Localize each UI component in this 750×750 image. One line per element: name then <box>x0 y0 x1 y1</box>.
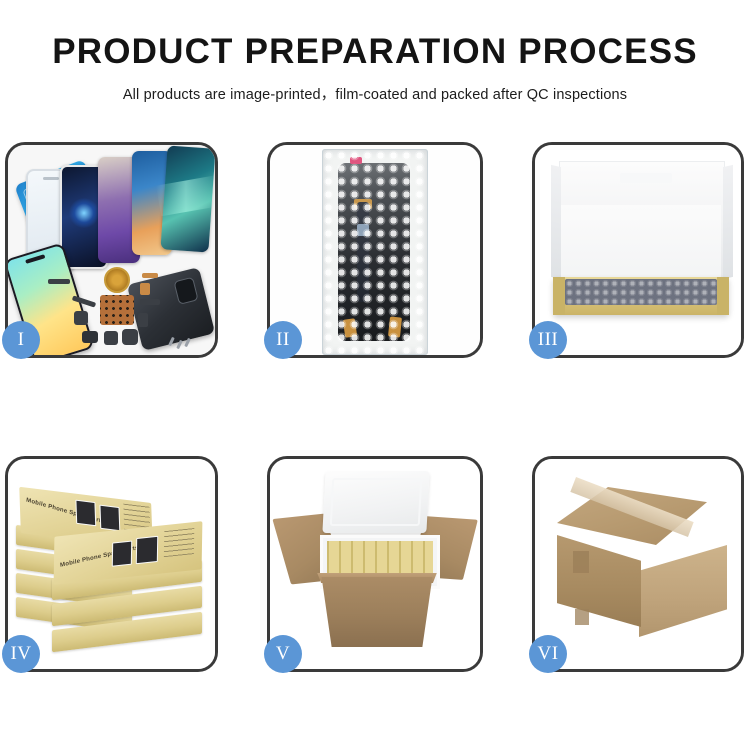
step-2-image <box>270 145 480 355</box>
box-screen-photo <box>99 505 120 532</box>
step-6-image <box>535 459 741 669</box>
carton-tab-upper <box>573 551 589 573</box>
kraft-tray <box>553 277 729 315</box>
foam-sheet <box>561 205 721 281</box>
step-badge-2: II <box>264 321 302 359</box>
screws-icon <box>170 337 194 353</box>
bubble-wrapped-contents <box>565 279 717 305</box>
step-panel-3: III <box>532 142 744 358</box>
part-connector <box>72 295 96 307</box>
carton-body <box>314 577 440 647</box>
box-screen-photo <box>75 500 96 527</box>
chip-array-icon <box>100 295 134 325</box>
part-strip <box>140 299 160 305</box>
bag-edge <box>322 149 428 355</box>
process-step-grid: I II <box>5 142 745 672</box>
step-panel-1: I <box>5 142 218 358</box>
foam-lid-open <box>322 471 429 533</box>
speaker-icon <box>82 331 98 343</box>
lid-tab <box>620 173 672 183</box>
step-3-image <box>535 145 741 355</box>
step-badge-1: I <box>2 321 40 359</box>
header: PRODUCT PREPARATION PROCESS All products… <box>0 0 750 104</box>
phone-screen-4 <box>160 145 215 252</box>
box-screen-photo <box>112 541 132 567</box>
product-preparation-infographic: PRODUCT PREPARATION PROCESS All products… <box>0 0 750 750</box>
carton-side-face <box>639 545 727 637</box>
page-title: PRODUCT PREPARATION PROCESS <box>0 34 750 69</box>
flex-cable-1 <box>142 273 158 278</box>
step-panel-5: V <box>267 456 483 672</box>
step-1-image <box>8 145 215 355</box>
part-module <box>74 311 88 325</box>
step-badge-4: IV <box>2 635 40 673</box>
step-5-image <box>270 459 480 669</box>
spare-parts-group <box>70 269 188 355</box>
part-button <box>104 331 118 345</box>
box-screen-photo <box>136 536 158 564</box>
step-panel-2: II <box>267 142 483 358</box>
flex-cable-2 <box>140 283 150 295</box>
step-4-image: Mobile Phone Spare Parts Mobile Phone Sp… <box>8 459 215 669</box>
tray-lip-left <box>553 277 565 315</box>
tray-lip-right <box>717 277 729 315</box>
part-block <box>138 313 148 327</box>
speaker-coil-icon <box>104 267 130 293</box>
step-panel-4: Mobile Phone Spare Parts Mobile Phone Sp… <box>5 456 218 672</box>
part-vibrator <box>122 329 138 345</box>
carton-tab-lower <box>575 609 589 625</box>
page-subtitle: All products are image-printed，film-coat… <box>0 83 750 104</box>
step-badge-6: VI <box>529 635 567 673</box>
bubble-wrap-bag <box>322 149 428 355</box>
step-badge-5: V <box>264 635 302 673</box>
phone-lineup <box>60 151 215 271</box>
part-bar <box>48 279 70 284</box>
step-panel-6: VI <box>532 456 744 672</box>
step-badge-3: III <box>529 321 567 359</box>
carton-front-face <box>557 535 641 627</box>
box-spec-lines <box>164 528 194 557</box>
box-stack: Mobile Phone Spare Parts Mobile Phone Sp… <box>14 473 212 659</box>
